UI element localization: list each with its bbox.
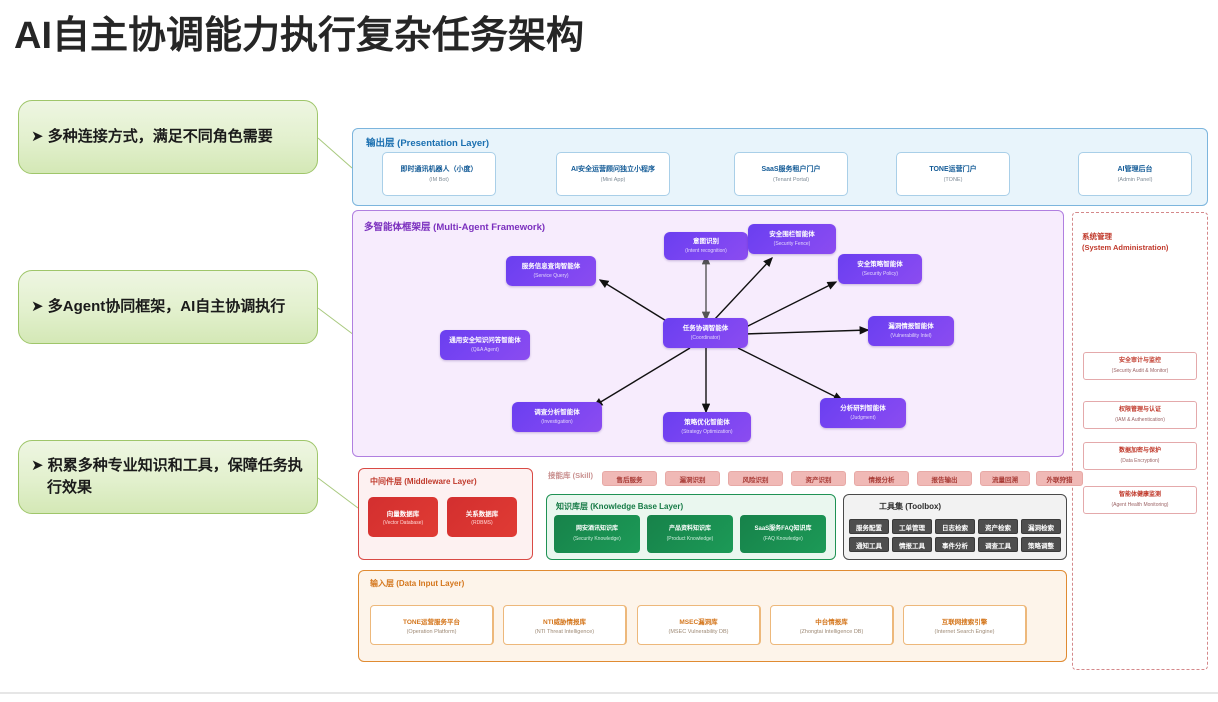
toolbox-title: 工具集 (Toolbox) (879, 501, 941, 512)
pres-card-admin-panel[interactable]: AI管理后台 (Admin Panel) (1078, 152, 1192, 196)
card-label-cn: 安全审计与监控 (1119, 358, 1161, 365)
agent-intent-recognition[interactable]: 意图识别 (Intent recognition) (664, 232, 748, 260)
panel-title-cn: 工具集 (879, 502, 903, 511)
card-label-cn: AI管理后台 (1118, 165, 1153, 174)
card-label-cn: SaaS服务FAQ知识库 (754, 526, 811, 534)
tool-vulnerability-search[interactable]: 漏洞检索 (1021, 519, 1061, 534)
agent-label-cn: 分析研判智能体 (840, 405, 886, 413)
card-label-en: (Internet Search Engine) (935, 629, 995, 635)
card-label-en: (Tenant Portal) (773, 177, 809, 183)
kb-card-security-knowledge[interactable]: 网安酒讯知识库 (Security Knowledge) (554, 515, 640, 553)
callout-connection-methods: ➤ 多种连接方式，满足不同角色需要 (18, 100, 318, 174)
card-label-en: (Mini App) (601, 177, 626, 183)
tool-investigation[interactable]: 调查工具 (978, 537, 1018, 552)
tool-notification[interactable]: 通知工具 (849, 537, 889, 552)
bullet-arrow-icon: ➤ (31, 457, 44, 474)
card-label-cn: 互联网搜索引擎 (942, 616, 988, 626)
agent-label-en: (Vulnerability Intel) (890, 333, 931, 339)
card-label-en: (Operation Platform) (407, 629, 457, 635)
bottom-divider (0, 692, 1218, 694)
kb-card-product-knowledge[interactable]: 产品资料知识库 (Product Knowledge) (647, 515, 733, 553)
card-label-cn: TONE运营服务平台 (403, 616, 460, 626)
card-label-en: (NTI Threat Intelligence) (535, 629, 594, 635)
db-label-cn: 关系数据库 (466, 508, 499, 518)
callout-label: 积累多种专业知识和工具，保障任务执行效果 (47, 457, 303, 496)
skill-chip-vulnerability-id[interactable]: 漏洞识别 (665, 471, 720, 486)
db-label-cn: 向量数据库 (387, 508, 420, 518)
card-label-cn: 智能体健康监测 (1119, 492, 1161, 499)
pres-card-mini-app[interactable]: AI安全运营顾问独立小程序 (Mini App) (556, 152, 670, 196)
skill-chip-report-output[interactable]: 报告输出 (917, 471, 972, 486)
db-label-en: (RDBMS) (471, 520, 492, 526)
skill-chip-traffic-retro[interactable]: 流量回溯 (980, 471, 1030, 486)
pres-card-tone[interactable]: TONE运营门户 (TONE) (896, 152, 1010, 196)
middleware-layer-title: 中间件层 (Middleware Layer) (370, 476, 477, 487)
panel-title-en: (System Administration) (1082, 243, 1168, 254)
tool-intelligence[interactable]: 情报工具 (892, 537, 932, 552)
skill-label-en: (Skill) (573, 471, 593, 480)
agent-label-cn: 服务信息查询智能体 (522, 263, 581, 271)
slide-canvas: AI自主协调能力执行复杂任务架构 ➤ 多种连接方式，满足不同角色需要 ➤ 多Ag… (0, 0, 1218, 702)
card-label-cn: TONE运营门户 (929, 165, 976, 174)
agent-label-cn: 漏洞情报智能体 (888, 323, 934, 331)
skill-chip-intel-analysis[interactable]: 情报分析 (854, 471, 909, 486)
callout-multi-agent: ➤ 多Agent协同框架，AI自主协调执行 (18, 270, 318, 344)
card-label-cn: 权限管理与认证 (1119, 407, 1161, 414)
agent-label-en: (Service Query) (533, 273, 568, 279)
layer-title-en: (Presentation Layer) (397, 138, 489, 149)
card-label-cn: 产品资料知识库 (669, 526, 711, 534)
callout-knowledge-tools: ➤ 积累多种专业知识和工具，保障任务执行效果 (18, 440, 318, 514)
agent-label-cn: 任务协调智能体 (683, 325, 729, 333)
card-label-cn: NTI威胁情报库 (543, 616, 586, 626)
db-vector-database[interactable]: 向量数据库 (Vector Database) (368, 497, 438, 537)
tool-log-search[interactable]: 日志检索 (935, 519, 975, 534)
tool-asset-search[interactable]: 资产检索 (978, 519, 1018, 534)
pres-card-im-bot[interactable]: 即时通讯机器人（小度） (IM Bot) (382, 152, 496, 196)
presentation-layer-title: 输出层 (Presentation Layer) (366, 135, 489, 149)
card-label-en: (Zhongtai Intelligence DB) (800, 629, 864, 635)
system-administration-panel (1072, 212, 1208, 670)
pres-card-tenant-portal[interactable]: SaaS服务租户门户 (Tenant Portal) (734, 152, 848, 196)
card-label-en: (Data Encryption) (1121, 458, 1160, 464)
agent-investigation[interactable]: 调查分析智能体 (Investigation) (512, 402, 602, 432)
agent-security-policy[interactable]: 安全策略智能体 (Security Policy) (838, 254, 922, 284)
callout-label: 多Agent协同框架，AI自主协调执行 (48, 298, 286, 315)
agent-label-en: (Security Policy) (862, 271, 898, 277)
agent-label-cn: 策略优化智能体 (684, 419, 730, 427)
card-label-cn: AI安全运营顾问独立小程序 (571, 165, 655, 174)
card-label-cn: 数据加密与保护 (1119, 448, 1161, 455)
input-card-search-engine[interactable]: 互联网搜索引擎 (Internet Search Engine) (903, 605, 1027, 645)
card-label-en: (IM Bot) (429, 177, 449, 183)
page-title: AI自主协调能力执行复杂任务架构 (14, 4, 584, 59)
skill-library-label: 接能库 (Skill) (548, 470, 593, 481)
layer-title-cn: 知识库层 (556, 502, 588, 511)
agent-label-en: (Q&A Agent) (471, 347, 499, 353)
card-label-cn: 即时通讯机器人（小度） (401, 165, 478, 174)
layer-title-cn: 多智能体框架层 (364, 222, 431, 233)
db-rdbms[interactable]: 关系数据库 (RDBMS) (447, 497, 517, 537)
card-label-en: (MSEC Vulnerability DB) (668, 629, 728, 635)
agent-label-cn: 安全围栏智能体 (769, 231, 815, 239)
multi-agent-layer-title: 多智能体框架层 (Multi-Agent Framework) (364, 219, 545, 233)
db-label-en: (Vector Database) (383, 520, 423, 526)
agent-qa[interactable]: 通用安全知识问答智能体 (Q&A Agent) (440, 330, 530, 360)
sysadm-card-iam[interactable]: 权限管理与认证 (IAM & Authentication) (1083, 401, 1197, 429)
skill-chip-asset-id[interactable]: 资产识别 (791, 471, 846, 486)
layer-title-cn: 输入层 (370, 579, 394, 588)
input-card-zhongtai[interactable]: 中台情报库 (Zhongtai Intelligence DB) (770, 605, 894, 645)
kb-card-faq-knowledge[interactable]: SaaS服务FAQ知识库 (FAQ Knowledge) (740, 515, 826, 553)
agent-strategy-optimization[interactable]: 策略优化智能体 (Strategy Optimization) (663, 412, 751, 442)
layer-title-cn: 中间件层 (370, 477, 402, 486)
card-label-en: (IAM & Authentication) (1115, 417, 1165, 423)
agent-label-en: (Strategy Optimization) (681, 429, 732, 435)
agent-label-cn: 调查分析智能体 (534, 409, 580, 417)
layer-title-cn: 输出层 (366, 138, 395, 149)
layer-title-en: (Middleware Layer) (404, 477, 476, 486)
agent-label-cn: 意图识别 (693, 238, 719, 246)
agent-label-en: (Intent recognition) (685, 248, 727, 254)
card-label-en: (TONE) (944, 177, 963, 183)
agent-label-cn: 通用安全知识问答智能体 (449, 337, 521, 345)
card-label-cn: 网安酒讯知识库 (576, 526, 618, 534)
tool-ticket-management[interactable]: 工单管理 (892, 519, 932, 534)
card-label-en: (Admin Panel) (1118, 177, 1153, 183)
skill-chip-outbound-hunting[interactable]: 外联狩猎 (1036, 471, 1083, 486)
card-label-en: (FAQ Knowledge) (763, 536, 802, 542)
agent-service-query[interactable]: 服务信息查询智能体 (Service Query) (506, 256, 596, 286)
skill-chip-risk-id[interactable]: 风险识别 (728, 471, 783, 486)
agent-label-en: (Investigation) (541, 419, 572, 425)
layer-title-en: (Multi-Agent Framework) (433, 222, 545, 233)
callout-text: ➤ 多Agent协同框架，AI自主协调执行 (31, 296, 285, 318)
skill-chip-after-sales[interactable]: 售后服务 (602, 471, 657, 486)
agent-label-en: (Judgment) (850, 415, 875, 421)
callout-text: ➤ 多种连接方式，满足不同角色需要 (31, 126, 273, 148)
agent-coordinator[interactable]: 任务协调智能体 (Coordinator) (663, 318, 748, 348)
agent-label-cn: 安全策略智能体 (857, 261, 903, 269)
tool-event-analysis[interactable]: 事件分析 (935, 537, 975, 552)
system-administration-title: 系统管理 (System Administration) (1082, 232, 1168, 254)
bullet-arrow-icon: ➤ (31, 298, 44, 315)
knowledge-base-layer-title: 知识库层 (Knowledge Base Layer) (556, 501, 683, 512)
card-label-cn: MSEC漏洞库 (679, 616, 717, 626)
tool-service-config[interactable]: 服务配置 (849, 519, 889, 534)
input-card-tone-platform[interactable]: TONE运营服务平台 (Operation Platform) (370, 605, 494, 645)
card-label-en: (Agent Health Monitoring) (1112, 502, 1169, 508)
tool-policy-adjustment[interactable]: 策略调整 (1021, 537, 1061, 552)
input-card-msec[interactable]: MSEC漏洞库 (MSEC Vulnerability DB) (637, 605, 761, 645)
callout-label: 多种连接方式，满足不同角色需要 (48, 128, 273, 145)
input-card-nti[interactable]: NTI威胁情报库 (NTI Threat Intelligence) (503, 605, 627, 645)
panel-title-en: (Toolbox) (905, 502, 941, 511)
sysadm-card-data-encryption[interactable]: 数据加密与保护 (Data Encryption) (1083, 442, 1197, 470)
agent-judgment[interactable]: 分析研判智能体 (Judgment) (820, 398, 906, 428)
agent-vulnerability-intel[interactable]: 漏洞情报智能体 (Vulnerability Intel) (868, 316, 954, 346)
agent-security-fence[interactable]: 安全围栏智能体 (Security Fence) (748, 224, 836, 254)
layer-title-en: (Knowledge Base Layer) (590, 502, 683, 511)
panel-title-cn: 系统管理 (1082, 232, 1168, 243)
card-label-en: (Security Knowledge) (573, 536, 621, 542)
sysadm-card-agent-health[interactable]: 智能体健康监测 (Agent Health Monitoring) (1083, 486, 1197, 514)
layer-title-en: (Data Input Layer) (396, 579, 464, 588)
card-label-cn: SaaS服务租户门户 (761, 165, 820, 174)
card-label-en: (Security Audit & Monitor) (1112, 368, 1169, 374)
agent-label-en: (Coordinator) (691, 335, 720, 341)
bullet-arrow-icon: ➤ (31, 128, 44, 145)
input-layer-title: 输入层 (Data Input Layer) (370, 578, 464, 589)
card-label-en: (Product Knowledge) (667, 536, 714, 542)
card-label-cn: 中台情报库 (815, 616, 848, 626)
agent-label-en: (Security Fence) (774, 241, 811, 247)
skill-label-cn: 接能库 (548, 471, 571, 480)
sysadm-card-security-audit[interactable]: 安全审计与监控 (Security Audit & Monitor) (1083, 352, 1197, 380)
callout-text: ➤ 积累多种专业知识和工具，保障任务执行效果 (31, 455, 305, 499)
